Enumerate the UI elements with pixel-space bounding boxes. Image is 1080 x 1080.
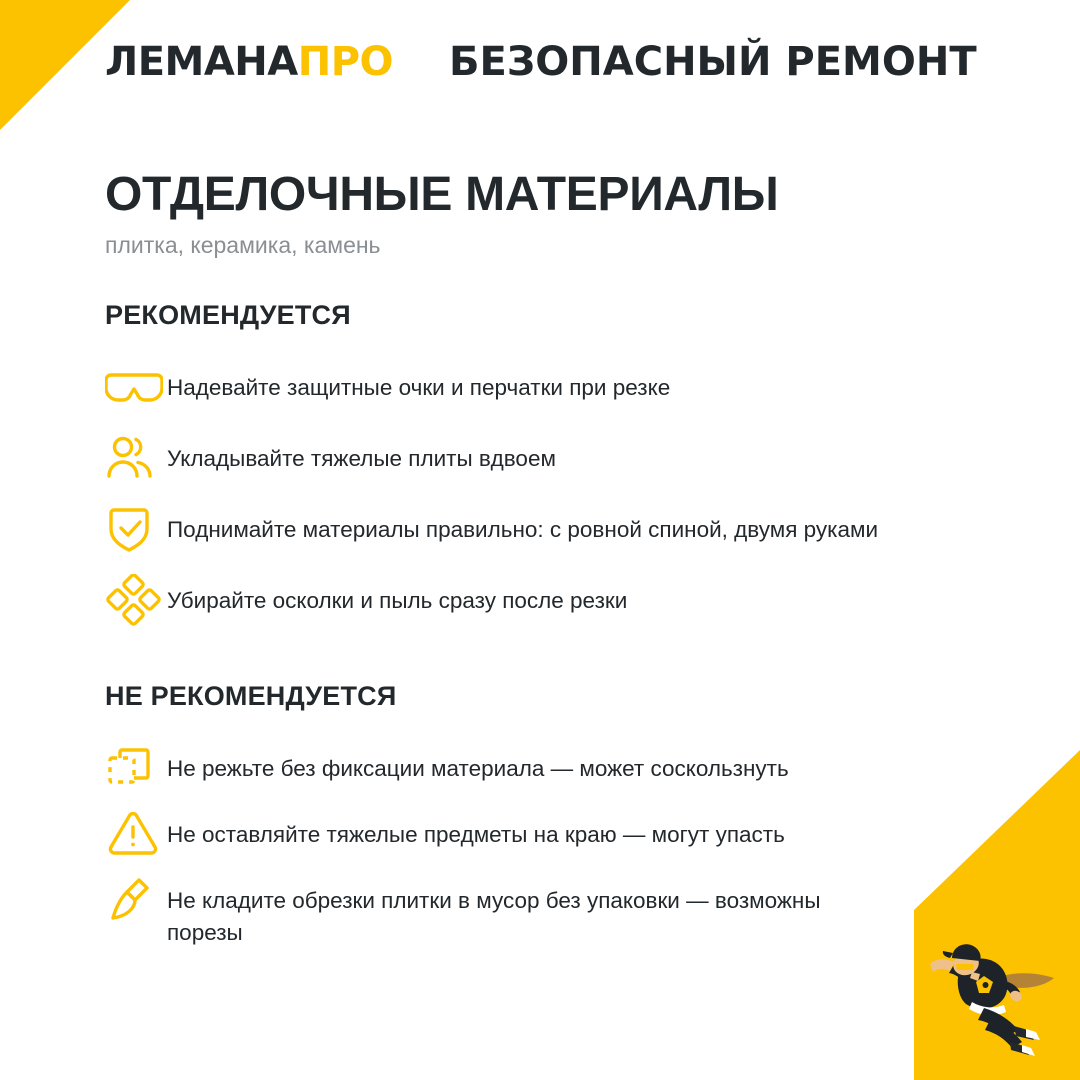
list-item: Не режьте без фиксации материала — может… (105, 744, 985, 792)
list-item-text: Укладывайте тяжелые плиты вдвоем (167, 434, 556, 475)
header: ЛЕМАНАПРО БЕЗОПАСНЫЙ РЕМОНТ (105, 42, 977, 82)
section-not-recommended: НЕ РЕКОМЕНДУЕТСЯ Не режьте без фиксации … (105, 681, 985, 967)
knife-icon (105, 876, 167, 924)
safety-goggles-icon (105, 363, 167, 411)
flying-superhero-mascot (906, 928, 1076, 1058)
warning-triangle-icon (105, 810, 167, 858)
list-item-text: Не режьте без фиксации материала — может… (167, 744, 789, 785)
section-heading-recommended: РЕКОМЕНДУЕТСЯ (105, 300, 985, 331)
list-item-text: Не оставляйте тяжелые предметы на краю —… (167, 810, 785, 851)
section-recommended: РЕКОМЕНДУЕТСЯ Надевайте защитные очки и … (105, 300, 985, 647)
list-item-text: Убирайте осколки и пыль сразу после резк… (167, 576, 627, 617)
header-title: БЕЗОПАСНЫЙ РЕМОНТ (449, 42, 977, 82)
shield-check-icon (105, 505, 167, 553)
list-item: Убирайте осколки и пыль сразу после резк… (105, 576, 985, 624)
section-heading-not-recommended: НЕ РЕКОМЕНДУЕТСЯ (105, 681, 985, 712)
unfixed-square-icon (105, 744, 167, 792)
list-item: Надевайте защитные очки и перчатки при р… (105, 363, 985, 411)
list-item: Не оставляйте тяжелые предметы на краю —… (105, 810, 985, 858)
brand-logo: ЛЕМАНАПРО (105, 42, 393, 82)
page-title: ОТДЕЛОЧНЫЕ МАТЕРИАЛЫ (105, 170, 778, 220)
list-item-text: Надевайте защитные очки и перчатки при р… (167, 363, 670, 404)
list-item-text: Не кладите обрезки плитки в мусор без уп… (167, 876, 897, 949)
list-item: Поднимайте материалы правильно: с ровной… (105, 505, 985, 553)
four-diamonds-icon (105, 576, 167, 624)
brand-logo-primary: ЛЕМАНА (105, 39, 298, 85)
list-item: Укладывайте тяжелые плиты вдвоем (105, 434, 985, 482)
page-subtitle: плитка, керамика, камень (105, 232, 381, 259)
list-item-text: Поднимайте материалы правильно: с ровной… (167, 505, 878, 546)
brand-logo-accent: ПРО (298, 39, 393, 85)
list-item: Не кладите обрезки плитки в мусор без уп… (105, 876, 985, 949)
two-people-icon (105, 434, 167, 482)
